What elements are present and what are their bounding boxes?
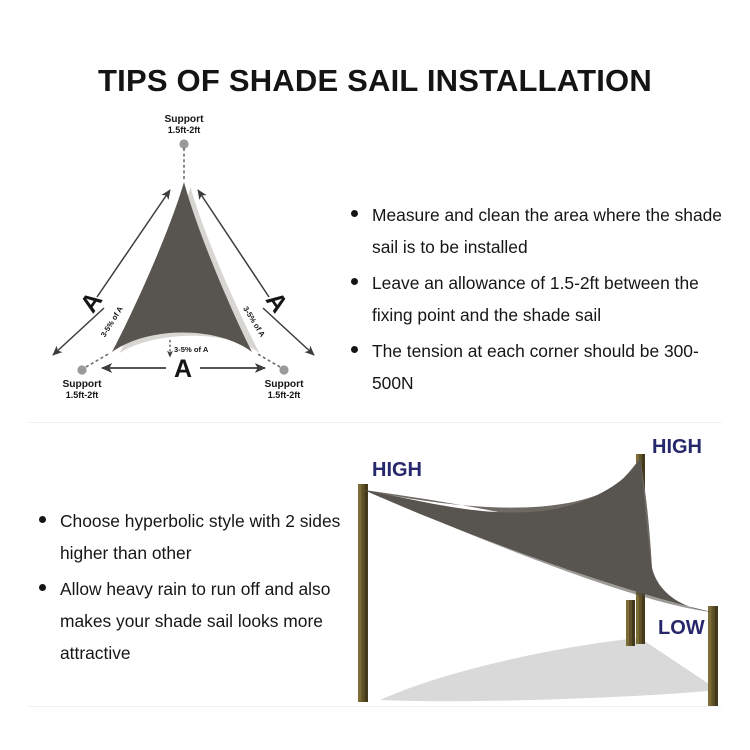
- list-item: Leave an allowance of 1.5-2ft between th…: [350, 267, 732, 331]
- side-length-label-bottom: A: [174, 355, 192, 383]
- bullet-icon: [351, 210, 358, 217]
- list-item: Choose hyperbolic style with 2 sides hig…: [38, 505, 348, 569]
- list-item: Measure and clean the area where the sha…: [350, 199, 732, 263]
- post-middle: [626, 600, 635, 646]
- anchor-point-top: [179, 139, 188, 148]
- tip-text: Measure and clean the area where the sha…: [372, 205, 722, 257]
- hyperbolic-shade-sail-diagram: HIGH HIGH LOW: [340, 428, 746, 718]
- ground-shadow: [380, 638, 718, 701]
- support-label-bottom-right: Support: [264, 379, 304, 390]
- list-item: Allow heavy rain to run off and also mak…: [38, 573, 348, 669]
- corner-label-left-high: HIGH: [372, 459, 422, 481]
- support-distance-bottom-right: 1.5ft-2ft: [268, 390, 301, 400]
- installation-tips-list: Measure and clean the area where the sha…: [350, 199, 732, 403]
- anchor-point-bottom-right: [279, 365, 288, 374]
- bullet-icon: [39, 584, 46, 591]
- tip-text: Choose hyperbolic style with 2 sides hig…: [60, 511, 340, 563]
- post-right-front: [708, 606, 718, 706]
- support-line-bottom-left: [86, 353, 110, 367]
- bullet-icon: [39, 516, 46, 523]
- hyperbolic-style-tips-list: Choose hyperbolic style with 2 sides hig…: [38, 505, 348, 673]
- side-length-label-left: A: [75, 287, 108, 318]
- infographic-page: TIPS OF SHADE SAIL INSTALLATION Support …: [0, 0, 750, 750]
- tip-text: Allow heavy rain to run off and also mak…: [60, 579, 330, 663]
- tip-text: The tension at each corner should be 300…: [372, 341, 699, 393]
- list-item: The tension at each corner should be 300…: [350, 335, 732, 399]
- support-distance-bottom-left: 1.5ft-2ft: [66, 390, 99, 400]
- support-distance-top: 1.5ft-2ft: [168, 125, 201, 135]
- sail-fabric-main: [364, 458, 712, 612]
- corner-label-right-front-low: LOW: [658, 617, 705, 639]
- tip-text: Leave an allowance of 1.5-2ft between th…: [372, 273, 699, 325]
- triangular-shade-sail-diagram: Support 1.5ft-2ft Support 1.5ft-2ft Supp…: [18, 112, 348, 412]
- page-title: TIPS OF SHADE SAIL INSTALLATION: [0, 63, 750, 99]
- support-label-top: Support: [164, 114, 204, 125]
- anchor-point-bottom-left: [77, 365, 86, 374]
- bullet-icon: [351, 278, 358, 285]
- curvature-label-bottom: 3-5% of A: [174, 345, 209, 354]
- bullet-icon: [351, 346, 358, 353]
- triangular-sail-fabric: [112, 182, 252, 352]
- support-line-bottom-right: [256, 353, 280, 367]
- corner-label-right-rear-high: HIGH: [652, 436, 702, 458]
- post-left: [358, 484, 368, 702]
- section-divider-middle: [28, 422, 722, 423]
- support-label-bottom-left: Support: [62, 379, 102, 390]
